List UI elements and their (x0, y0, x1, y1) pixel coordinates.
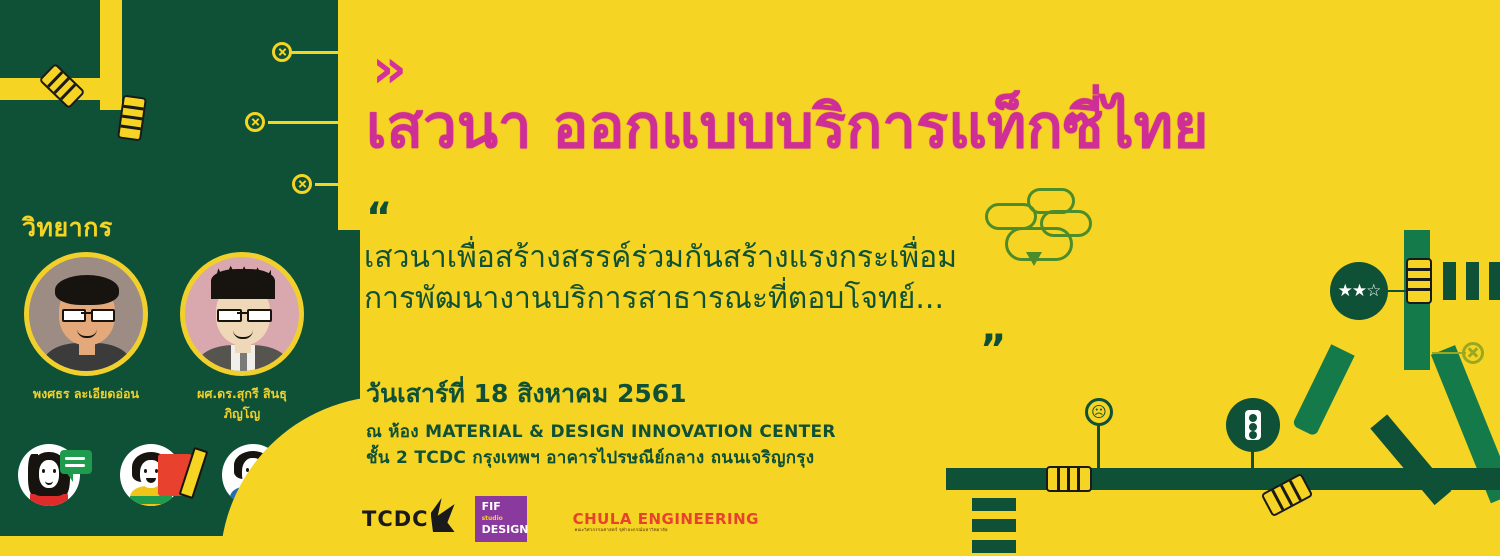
taxi-service-design-seminar-poster: ★★☆ ☹ (0, 0, 1500, 556)
x-marker-icon (245, 112, 265, 132)
speaker-name: พงศธร ละเอียดอ่อน (24, 384, 148, 404)
road-fork-left (1292, 344, 1355, 436)
rating-stars: ★★☆ (1338, 281, 1381, 301)
speaker-card-1[interactable]: พงศธร ละเอียดอ่อน (24, 252, 148, 404)
tcdc-logo-text: TCDC (362, 507, 429, 531)
taxi-icon (117, 95, 147, 142)
quote-text: เสวนาเพื่อสร้างสรรค์ร่วมกันสร้างแรงกระเพ… (364, 238, 957, 320)
panel-yellow-edge (338, 0, 360, 230)
quote-line-1: เสวนาเพื่อสร้างสรรค์ร่วมกันสร้างแรงกระเพ… (364, 238, 957, 279)
speakers-heading: วิทยากร (22, 208, 113, 248)
crosswalk-stripe (972, 540, 1016, 553)
x-marker-icon (272, 42, 292, 62)
avatar (180, 252, 304, 376)
crosswalk-stripe (972, 519, 1016, 532)
crosswalk-stripe (1443, 262, 1456, 300)
glasses-icon (62, 309, 86, 322)
sad-face-glyph: ☹ (1091, 403, 1107, 421)
traffic-light-icon (1245, 410, 1261, 440)
cloud-bubble-tail (1026, 252, 1042, 266)
fif-logo-line-1: FIF (482, 500, 527, 515)
fif-studio-design-logo[interactable]: FIF studio DESIGN (475, 496, 527, 542)
crosswalk-stripe (1466, 262, 1479, 300)
event-venue-line-1: ณ ห้อง MATERIAL & DESIGN INNOVATION CENT… (366, 418, 836, 445)
speech-bubble-icon (60, 450, 92, 474)
speech-bubble-tail (66, 472, 73, 482)
tcdc-mark-icon (431, 498, 455, 532)
fif-logo-line-2: DESIGN (482, 523, 527, 538)
taxi-icon (39, 63, 86, 109)
quote-close-mark: ” (980, 338, 1006, 362)
marker-connector-line (290, 51, 342, 54)
cloud-bubble-icon (985, 203, 1037, 230)
left-green-panel: วิทยากร พงศธร ละเอียดอ่อน (0, 0, 360, 556)
taxi-icon (1046, 466, 1092, 492)
speaker-name: ผศ.ดร.สุกรี สินธุภิญโญ (180, 384, 304, 424)
speaker-card-2[interactable]: ผศ.ดร.สุกรี สินธุภิญโญ (180, 252, 304, 424)
quote-open-mark: “ (366, 206, 392, 230)
traffic-light-badge (1226, 398, 1280, 452)
marker-connector-line (268, 121, 342, 124)
rating-badge: ★★☆ (1330, 262, 1388, 320)
chula-logo-sub: คณะวิศวกรรมศาสตร์ จุฬาลงกรณ์มหาวิทยาลัย (575, 526, 668, 533)
chevron-double-right-icon: » (372, 42, 403, 96)
panel-bottom-yellow (0, 536, 300, 556)
glasses-icon (217, 309, 242, 322)
crosswalk-stripe (972, 498, 1016, 511)
xpin-connector-line (1432, 352, 1466, 354)
quote-line-2: การพัฒนางานบริการสาธารณะที่ตอบโจทย์... (364, 279, 957, 320)
tcdc-logo[interactable]: TCDC (362, 507, 429, 531)
marker-connector-line (315, 183, 345, 186)
avatar (24, 252, 148, 376)
sad-pin-stem (1097, 424, 1100, 472)
sponsor-logos: TCDC FIF studio DESIGN CHULA ENGINEERING… (362, 496, 759, 542)
event-date: วันเสาร์ที่ 18 สิงหาคม 2561 (366, 374, 687, 414)
road-bottom-curve (1370, 414, 1451, 505)
fif-logo-sub: studio (482, 515, 527, 523)
x-marker-icon (1462, 342, 1484, 364)
crosswalk-stripe (1489, 262, 1500, 300)
x-marker-icon (292, 174, 312, 194)
chula-engineering-logo[interactable]: CHULA ENGINEERING คณะวิศวกรรมศาสตร์ จุฬา… (573, 510, 759, 528)
event-venue-line-2: ชั้น 2 TCDC กรุงเทพฯ อาคารไปรษณีย์กลาง ถ… (366, 444, 814, 471)
sad-face-pin-icon: ☹ (1085, 398, 1113, 426)
taxi-icon (1406, 258, 1432, 304)
glasses-icon (91, 309, 115, 322)
glasses-icon (247, 309, 272, 322)
page-title: เสวนา ออกแบบบริการแท็กซี่ไทย (366, 96, 1208, 160)
